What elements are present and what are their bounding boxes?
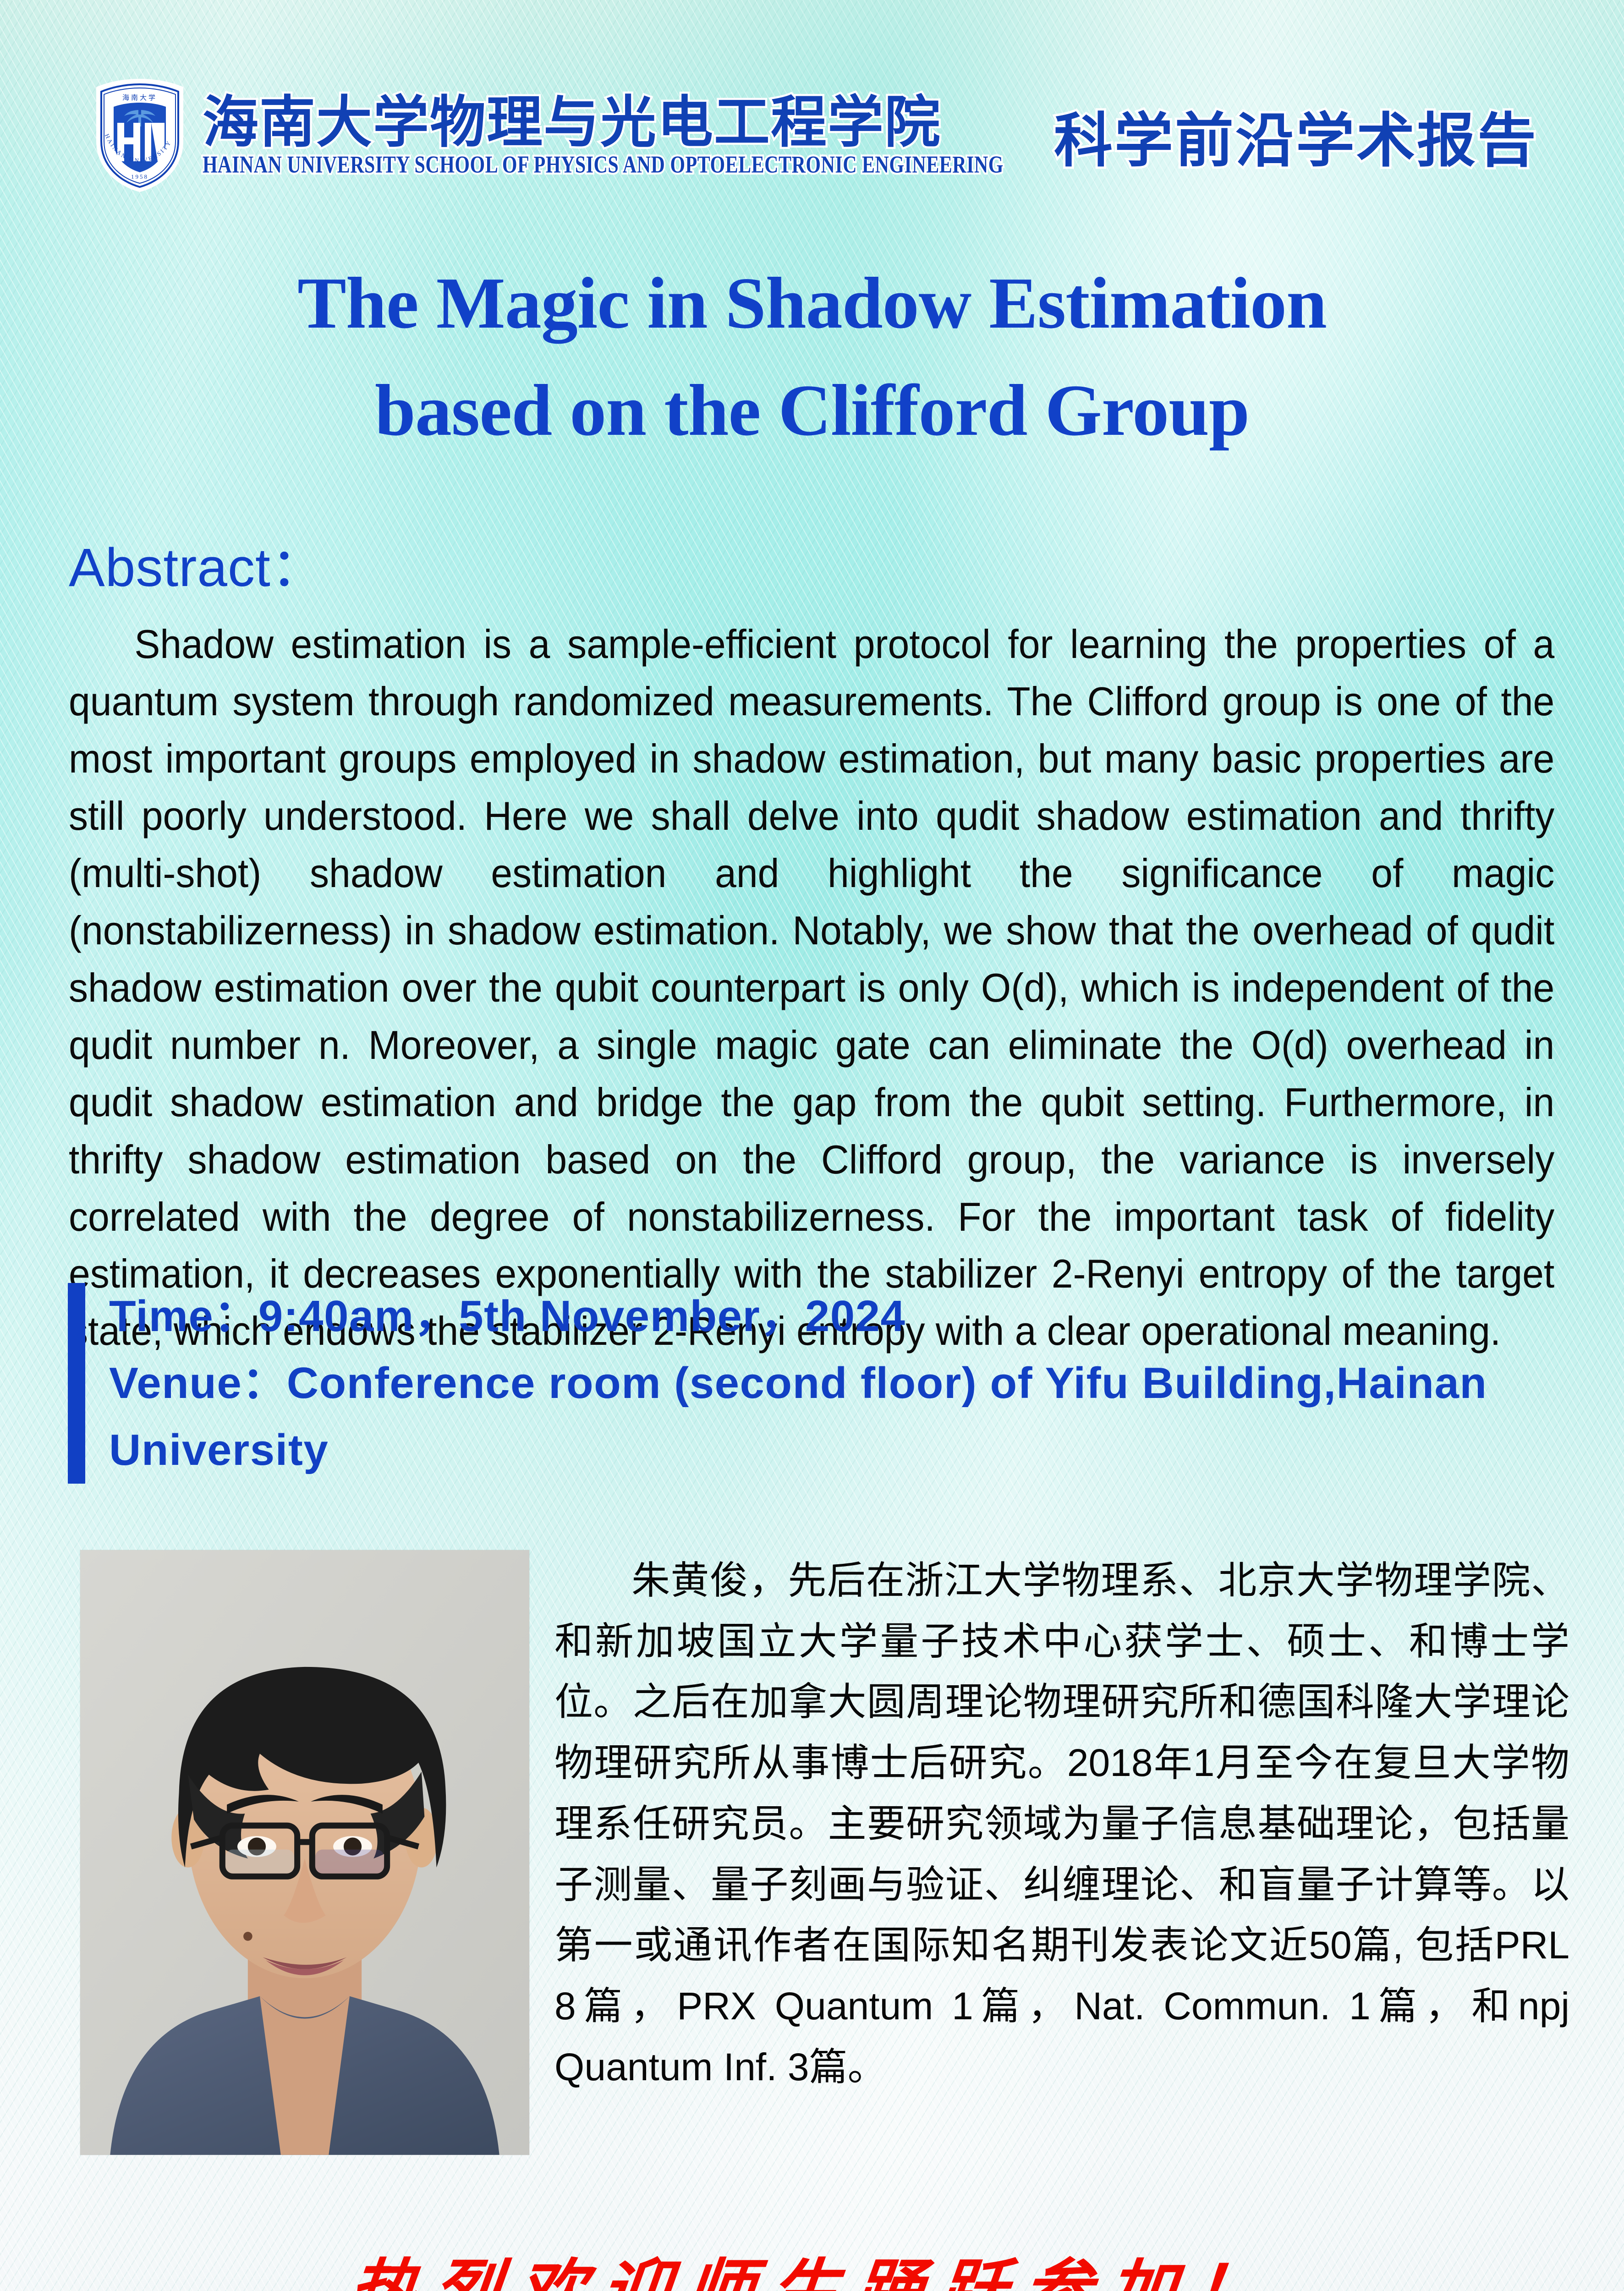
hainan-university-shield-logo: 海南大学 1958 HAINAN UNIVERSITY: [87, 77, 192, 194]
event-details-lines: Time：9:40am，5th November，2024 Venue：Conf…: [109, 1283, 1548, 1484]
title-line-1: The Magic in Shadow Estimation: [0, 250, 1624, 357]
abstract-heading: Abstract：: [69, 541, 1558, 595]
abstract-text: Shadow estimation is a sample-efficient …: [69, 616, 1554, 1360]
event-venue: Venue：Conference room (second floor) of …: [109, 1350, 1548, 1417]
poster-header: 海南大学 1958 HAINAN UNIVERSITY 海南大学物理与光电工程学…: [0, 77, 1624, 194]
masthead: 海南大学物理与光电工程学院 HAINAN UNIVERSITY SCHOOL O…: [203, 95, 1004, 175]
accent-bar: [68, 1283, 85, 1484]
speaker-bio: 朱黄俊，先后在浙江大学物理系、北京大学物理学院、和新加坡国立大学量子技术中心获学…: [554, 1550, 1569, 2097]
speaker-section: 朱黄俊，先后在浙江大学物理系、北京大学物理学院、和新加坡国立大学量子技术中心获学…: [0, 1550, 1624, 2155]
poster-footer: 热烈欢迎师生踊跃参加！: [0, 2236, 1624, 2291]
page-title: The Magic in Shadow Estimation based on …: [0, 250, 1624, 464]
poster-canvas: 海南大学 1958 HAINAN UNIVERSITY 海南大学物理与光电工程学…: [0, 0, 1624, 2291]
school-name-cn: 海南大学物理与光电工程学院: [203, 95, 1004, 152]
event-venue-tail: University: [109, 1417, 1548, 1484]
speaker-portrait: [80, 1550, 529, 2155]
event-details: Time：9:40am，5th November，2024 Venue：Conf…: [68, 1283, 1571, 1484]
svg-text:海南大学: 海南大学: [122, 94, 157, 102]
school-name-en: HAINAN UNIVERSITY SCHOOL OF PHYSICS AND …: [203, 151, 1004, 179]
welcome-message: 热烈欢迎师生踊跃参加！: [343, 2236, 1281, 2291]
svg-text:1958: 1958: [131, 173, 148, 180]
lecture-series-title: 科学前沿学术报告: [1054, 93, 1538, 178]
abstract-section: Abstract： Shadow estimation is a sample-…: [69, 541, 1558, 1360]
event-time: Time：9:40am，5th November，2024: [109, 1283, 1548, 1350]
title-line-2: based on the Clifford Group: [0, 357, 1624, 464]
